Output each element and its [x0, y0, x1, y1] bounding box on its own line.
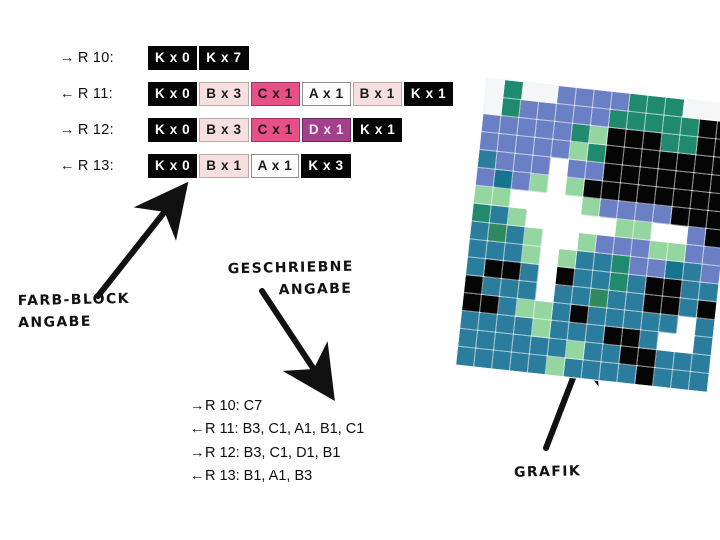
pixel-cell: [623, 310, 643, 330]
pixel-cell: [525, 209, 545, 229]
canvas: →R 10:K x 0K x 7←R 11:K x 0B x 3C x 1A x…: [0, 0, 720, 540]
pixel-cell: [691, 354, 711, 374]
pixel-cell: [496, 315, 516, 335]
pixel-cell: [619, 183, 639, 203]
pixel-cell: [644, 114, 664, 134]
color-block-b: B x 3: [199, 118, 248, 142]
written-notation-text: R 11: B3, C1, A1, B1, C1: [205, 421, 364, 437]
pixel-cell: [494, 333, 514, 353]
written-notation-line: ←R 11: B3, C1, A1, B1, C1: [190, 418, 364, 441]
pixel-cell: [585, 161, 605, 181]
pixel-cell: [637, 348, 657, 368]
pixel-cell: [510, 352, 530, 372]
color-block-a: A x 1: [302, 82, 351, 106]
pixel-cell: [504, 243, 524, 263]
pixel-cell: [474, 349, 494, 369]
pixel-cell: [651, 223, 671, 243]
pixel-cell: [671, 370, 691, 390]
pixel-cell: [685, 245, 705, 265]
pixel-cell: [520, 263, 540, 283]
pixel-cell: [671, 207, 691, 227]
pixel-cell: [519, 100, 539, 120]
row-number-label: R 10:: [78, 50, 114, 66]
pixel-cell: [587, 307, 607, 327]
pixel-cell: [712, 157, 720, 177]
pixel-cell: [476, 331, 496, 351]
pixel-cell: [708, 193, 720, 213]
pixel-cell: [667, 243, 687, 263]
pixel-cell: [532, 319, 552, 339]
pixel-cell: [611, 92, 631, 112]
pixel-cell: [605, 309, 625, 329]
color-block-c: C x 1: [251, 82, 300, 106]
label-geschriebne-angabe: GESCHRIEBNE ANGABE: [228, 257, 353, 303]
pixel-cell: [589, 126, 609, 146]
pixel-cell: [563, 195, 583, 215]
block-row-label: →R 12:: [60, 122, 148, 138]
written-notation-text: R 12: B3, C1, D1, B1: [205, 445, 340, 461]
pixel-cell: [700, 265, 720, 285]
pixel-cell: [511, 172, 531, 192]
block-row-label: ←R 11:: [60, 86, 148, 102]
pixel-cell: [539, 247, 559, 267]
pixel-cell: [621, 165, 641, 185]
pixel-cell: [682, 100, 702, 120]
pixel-cell: [639, 167, 659, 187]
pixel-cell: [643, 132, 663, 152]
pixel-cell: [635, 203, 655, 223]
pixel-cell: [567, 160, 587, 180]
pixel-cell: [492, 351, 512, 371]
block-sequence: K x 0B x 3C x 1A x 1B x 1K x 1: [148, 82, 455, 106]
color-block-k: K x 0: [148, 154, 197, 178]
pixel-cell: [635, 366, 655, 386]
pixel-cell: [483, 96, 503, 116]
pixel-cell: [478, 313, 498, 333]
pixel-cell: [601, 344, 621, 364]
pixel-cell: [575, 88, 595, 108]
pixel-cell: [697, 300, 717, 320]
pixel-cell: [555, 104, 575, 124]
pixel-cell: [696, 137, 716, 157]
pixel-cell: [597, 217, 617, 237]
pixel-cell: [516, 299, 536, 319]
pixel-cell: [537, 265, 557, 285]
color-block-k: K x 0: [148, 118, 197, 142]
pixel-cell: [484, 259, 504, 279]
color-block-k: K x 7: [199, 46, 248, 70]
written-notation-list: →R 10: C7←R 11: B3, C1, A1, B1, C1→R 12:…: [190, 395, 364, 489]
pixel-cell: [523, 227, 543, 247]
color-block-c: C x 1: [251, 118, 300, 142]
block-sequence: K x 0B x 1A x 1K x 3: [148, 154, 353, 178]
pixel-cell: [559, 231, 579, 251]
pixel-cell: [665, 261, 685, 281]
pixel-cell: [641, 149, 661, 169]
color-block-a: A x 1: [251, 154, 300, 178]
pixel-cell: [495, 152, 515, 172]
pixel-cell: [704, 229, 720, 249]
pixel-cell: [573, 106, 593, 126]
pixel-cell: [603, 326, 623, 346]
direction-arrow-icon: →: [190, 442, 205, 465]
pixel-cell: [653, 205, 673, 225]
pixel-cell: [673, 352, 693, 372]
pixel-cell: [607, 128, 627, 148]
pixel-cell: [500, 279, 520, 299]
pixel-cell: [490, 205, 510, 225]
pixel-cell: [497, 134, 517, 154]
color-block-b: B x 1: [353, 82, 402, 106]
pixel-cell: [653, 368, 673, 388]
pixel-cell: [643, 295, 663, 315]
label-grafik: GRAFIK: [514, 461, 582, 484]
pixel-cell: [714, 139, 720, 159]
pixel-cell: [569, 305, 589, 325]
pixel-cell: [601, 181, 621, 201]
pixel-cell: [621, 328, 641, 348]
pixel-cell: [688, 209, 708, 229]
pixel-cell: [553, 122, 573, 142]
pixel-cell: [662, 116, 682, 136]
block-row: →R 12:K x 0B x 3C x 1D x 1K x 1: [60, 114, 480, 145]
pixel-cell: [669, 225, 689, 245]
pixel-cell: [627, 275, 647, 295]
pixel-cell: [546, 356, 566, 376]
pixel-cell: [480, 295, 500, 315]
pixel-cell: [581, 360, 601, 380]
pixel-cell: [613, 237, 633, 257]
pixel-cell: [595, 235, 615, 255]
pixel-cell: [564, 358, 584, 378]
pixel-cell: [535, 120, 555, 140]
pixel-cell: [571, 287, 591, 307]
pixel-cell: [579, 215, 599, 235]
pixel-cell: [647, 259, 667, 279]
pixel-cell: [655, 187, 675, 207]
pixel-cell: [573, 269, 593, 289]
pixel-cell: [716, 121, 720, 141]
block-row: →R 10:K x 0K x 7: [60, 42, 480, 73]
pixel-cell: [499, 116, 519, 136]
pixel-cell: [537, 102, 557, 122]
direction-arrow-icon: ←: [190, 418, 205, 441]
pixel-cell: [587, 144, 607, 164]
pixel-cell: [695, 318, 715, 338]
pixel-cell: [619, 346, 639, 366]
pixel-cell: [533, 138, 553, 158]
pixel-cell: [502, 261, 522, 281]
row-number-label: R 13:: [78, 158, 114, 174]
pixel-cell: [536, 283, 556, 303]
color-block-k: K x 1: [404, 82, 453, 106]
written-notation-text: R 10: C7: [205, 398, 262, 414]
pixel-cell: [530, 337, 550, 357]
pixel-cell: [503, 80, 523, 100]
pixel-cell: [660, 133, 680, 153]
pixel-cell: [551, 140, 571, 160]
written-notation-text: R 13: B1, A1, B3: [205, 468, 312, 484]
pixel-cell: [550, 321, 570, 341]
pixel-cell: [605, 146, 625, 166]
pixel-cell: [583, 342, 603, 362]
pixel-cell: [672, 189, 692, 209]
pixel-cell: [557, 249, 577, 269]
pixel-cell: [694, 155, 714, 175]
pixel-cell: [541, 229, 561, 249]
pixel-cell: [581, 197, 601, 217]
color-block-b: B x 3: [199, 82, 248, 106]
pixel-cell: [478, 150, 498, 170]
pixel-cell: [693, 336, 713, 356]
block-row-label: ←R 13:: [60, 158, 148, 174]
row-number-label: R 11:: [78, 86, 113, 102]
pixel-cell: [599, 362, 619, 382]
pixel-cell: [521, 82, 541, 102]
pixel-cell: [625, 293, 645, 313]
pixel-cell: [585, 324, 605, 344]
block-row-label: →R 10:: [60, 50, 148, 66]
pixel-cell: [527, 191, 547, 211]
pixel-cell: [565, 177, 585, 197]
pixel-cell: [492, 188, 512, 208]
pixel-cell: [700, 102, 720, 122]
pixel-cell: [657, 332, 677, 352]
pixel-cell: [583, 179, 603, 199]
pixel-cell: [690, 191, 710, 211]
pixel-cell: [629, 94, 649, 114]
pixel-grid: [455, 77, 720, 393]
pixel-cell: [577, 233, 597, 253]
pixel-cell: [476, 168, 496, 188]
pixel-cell: [629, 257, 649, 277]
pixel-cell: [456, 347, 476, 367]
pixel-cell: [627, 112, 647, 132]
pixel-cell: [482, 277, 502, 297]
pixel-cell: [617, 201, 637, 221]
pixel-cell: [625, 130, 645, 150]
pixel-cell: [551, 303, 571, 323]
pixel-cell: [514, 317, 534, 337]
block-sequence: K x 0K x 7: [148, 46, 251, 70]
block-row: ←R 11:K x 0B x 3C x 1A x 1B x 1K x 1: [60, 78, 480, 109]
pixel-cell: [571, 124, 591, 144]
color-block-k: K x 0: [148, 46, 197, 70]
pixel-cell: [460, 311, 480, 331]
pixel-cell: [488, 223, 508, 243]
pixel-cell: [679, 298, 699, 318]
color-block-k: K x 3: [301, 154, 350, 178]
pixel-cell: [468, 239, 488, 259]
pixel-cell: [549, 158, 569, 178]
pixel-cell: [603, 163, 623, 183]
pixel-cell: [485, 78, 505, 98]
pixel-cell: [609, 273, 629, 293]
pixel-cell: [678, 135, 698, 155]
pixel-cell: [649, 241, 669, 261]
pixel-cell: [474, 186, 494, 206]
pixel-cell: [466, 257, 486, 277]
pixel-cell: [683, 263, 703, 283]
direction-arrow-icon: ←: [60, 158, 75, 174]
pixel-cell: [611, 255, 631, 275]
pixel-cell: [599, 199, 619, 219]
pixel-cell: [462, 293, 482, 313]
pixel-cell: [617, 364, 637, 384]
pixel-cell: [686, 227, 706, 247]
color-block-k: K x 0: [148, 82, 197, 106]
pixel-cell: [645, 277, 665, 297]
direction-arrow-icon: →: [190, 395, 205, 418]
pixel-cell: [534, 301, 554, 321]
direction-arrow-icon: ←: [60, 86, 75, 102]
pixel-cell: [593, 90, 613, 110]
row-number-label: R 12:: [78, 122, 114, 138]
pixel-cell: [641, 312, 661, 332]
pixel-cell: [567, 323, 587, 343]
pixel-cell: [589, 289, 609, 309]
pixel-cell: [593, 253, 613, 273]
grafik-graphic: [462, 78, 720, 368]
color-block-k: K x 1: [353, 118, 402, 142]
pixel-cell: [633, 221, 653, 241]
pixel-cell: [528, 354, 548, 374]
pixel-cell: [680, 118, 700, 138]
written-notation-line: ←R 13: B1, A1, B3: [190, 465, 364, 488]
pixel-cell: [522, 245, 542, 265]
pixel-cell: [655, 350, 675, 370]
pixel-cell: [509, 189, 529, 209]
direction-arrow-icon: →: [60, 122, 75, 138]
pixel-cell: [569, 142, 589, 162]
color-block-b: B x 1: [199, 154, 248, 178]
pixel-cell: [664, 98, 684, 118]
pixel-cell: [515, 136, 535, 156]
pixel-cell: [557, 86, 577, 106]
pixel-cell: [591, 108, 611, 128]
written-notation-line: →R 12: B3, C1, D1, B1: [190, 442, 364, 465]
pixel-cell: [506, 225, 526, 245]
pixel-cell: [702, 247, 720, 267]
direction-arrow-icon: →: [60, 50, 75, 66]
pixel-cell: [698, 119, 718, 139]
direction-arrow-icon: ←: [190, 465, 205, 488]
pixel-cell: [676, 153, 696, 173]
pixel-cell: [512, 335, 532, 355]
pixel-cell: [545, 193, 565, 213]
block-sequence: K x 0B x 3C x 1D x 1K x 1: [148, 118, 404, 142]
pixel-cell: [659, 314, 679, 334]
pixel-cell: [501, 98, 521, 118]
pixel-cell: [480, 132, 500, 152]
pixel-cell: [699, 282, 719, 302]
pixel-cell: [663, 279, 683, 299]
pixel-cell: [677, 316, 697, 336]
pixel-cell: [675, 334, 695, 354]
pixel-cell: [657, 169, 677, 189]
pixel-cell: [555, 267, 575, 287]
written-notation-line: →R 10: C7: [190, 395, 364, 418]
pixel-cell: [494, 170, 514, 190]
pixel-cell: [472, 203, 492, 223]
pixel-cell: [609, 110, 629, 130]
label-farb-block-angabe: FARB-BLOCK ANGABE: [18, 289, 131, 335]
pixel-cell: [518, 281, 538, 301]
color-block-notation: →R 10:K x 0K x 7←R 11:K x 0B x 3C x 1A x…: [60, 42, 480, 186]
pixel-cell: [689, 372, 709, 392]
pixel-cell: [508, 207, 528, 227]
pixel-cell: [486, 241, 506, 261]
color-block-d: D x 1: [302, 118, 351, 142]
pixel-cell: [646, 96, 666, 116]
pixel-cell: [565, 340, 585, 360]
pixel-cell: [631, 239, 651, 259]
pixel-cell: [639, 330, 659, 350]
pixel-cell: [470, 221, 490, 241]
pixel-cell: [591, 271, 611, 291]
pixel-cell: [615, 219, 635, 239]
pixel-cell: [517, 118, 537, 138]
pixel-cell: [513, 154, 533, 174]
pixel-cell: [623, 147, 643, 167]
pixel-cell: [464, 275, 484, 295]
pixel-cell: [548, 338, 568, 358]
pixel-cell: [539, 84, 559, 104]
pixel-cell: [481, 114, 501, 134]
pixel-cell: [681, 281, 701, 301]
block-row: ←R 13:K x 0B x 1A x 1K x 3: [60, 150, 480, 181]
pixel-cell: [710, 175, 720, 195]
pixel-cell: [529, 174, 549, 194]
pixel-cell: [637, 185, 657, 205]
pixel-cell: [553, 285, 573, 305]
pixel-cell: [561, 213, 581, 233]
pixel-cell: [531, 156, 551, 176]
pixel-cell: [658, 151, 678, 171]
pixel-cell: [498, 297, 518, 317]
pixel-cell: [575, 251, 595, 271]
pixel-cell: [706, 211, 720, 231]
pixel-cell: [674, 171, 694, 191]
pixel-cell: [547, 175, 567, 195]
pixel-cell: [458, 329, 478, 349]
pixel-cell: [543, 211, 563, 231]
pixel-cell: [607, 291, 627, 311]
pixel-cell: [661, 296, 681, 316]
pixel-cell: [692, 173, 712, 193]
